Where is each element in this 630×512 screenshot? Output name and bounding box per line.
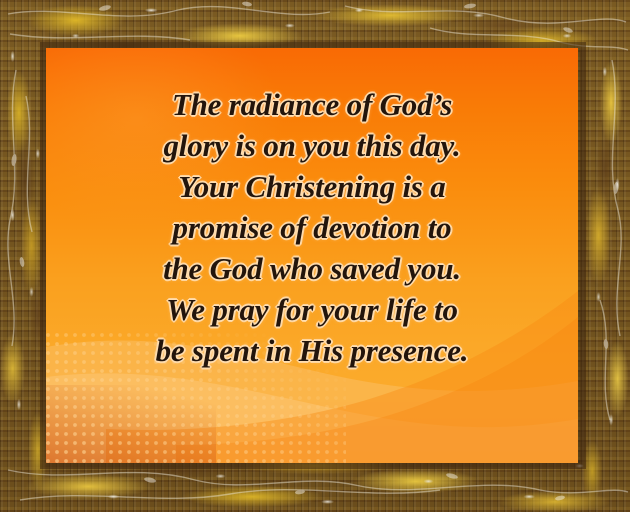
verse-line-4: promise of devotion to: [46, 207, 578, 248]
verse-line-1: The radiance of God’s: [46, 84, 578, 125]
verse-text-block: The radiance of God’s glory is on you th…: [46, 84, 578, 371]
verse-line-6: We pray for your life to: [46, 289, 578, 330]
orange-verse-panel: The radiance of God’s glory is on you th…: [46, 48, 578, 463]
verse-line-7: be spent in His presence.: [46, 330, 578, 371]
verse-line-3: Your Christening is a: [46, 166, 578, 207]
verse-line-5: the God who saved you.: [46, 248, 578, 289]
framed-verse-artwork: The radiance of God’s glory is on you th…: [0, 0, 630, 512]
verse-line-2: glory is on you this day.: [46, 125, 578, 166]
